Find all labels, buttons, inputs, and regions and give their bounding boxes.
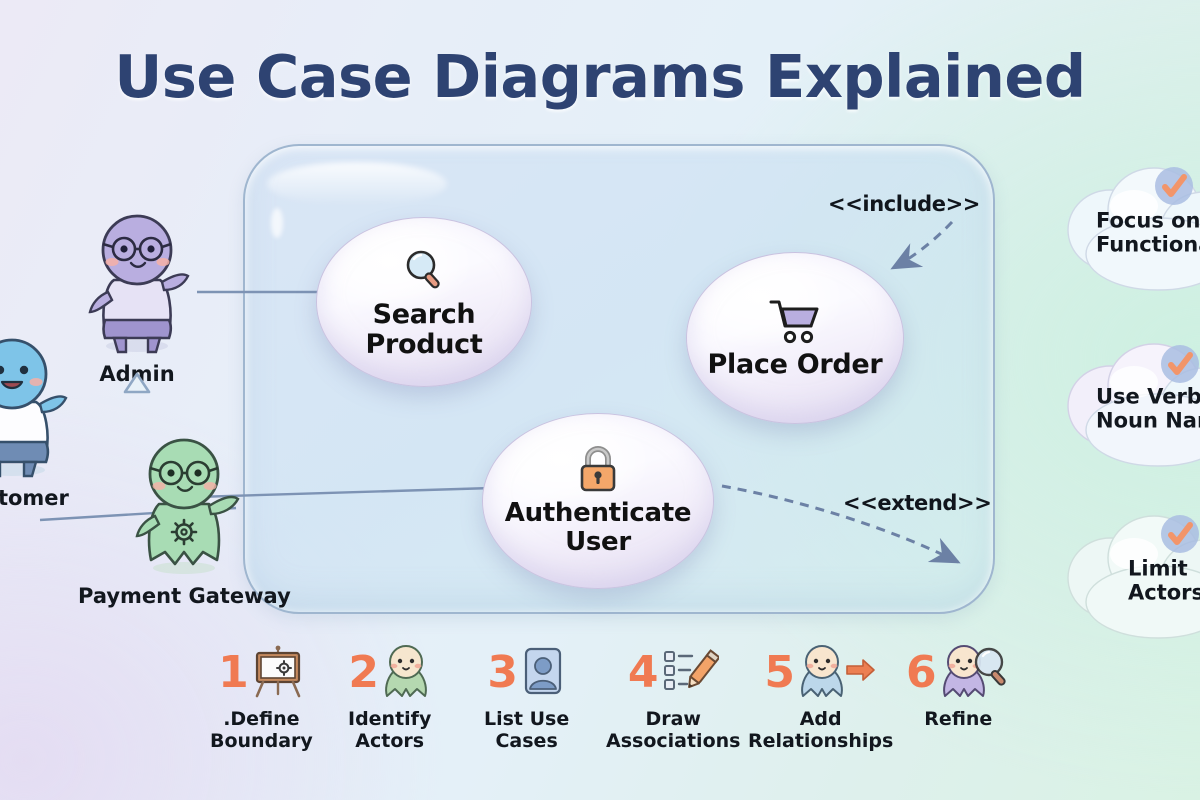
include-label: <<include>>	[828, 192, 980, 216]
magnifier-icon	[398, 244, 450, 296]
actor-admin-icon	[78, 206, 196, 359]
actor-admin[interactable]: Admin	[78, 206, 196, 387]
actor-magnifier-icon	[939, 644, 1011, 703]
lock-icon	[575, 445, 621, 495]
actor-payment-gateway[interactable]: Payment Gateway	[78, 428, 291, 609]
tip-cloud-use-verb-noun-names[interactable]: Use Verb-Noun Names	[1062, 334, 1200, 484]
step-refine[interactable]: 6 Refine	[906, 645, 1011, 730]
step-number: 1	[218, 651, 249, 695]
step-number: 2	[348, 651, 379, 695]
step-label: .Define Boundary	[210, 708, 313, 753]
use-case-label: Search Product	[317, 300, 531, 360]
checklist-pencil-icon	[661, 645, 719, 702]
whiteboard-icon	[251, 644, 305, 703]
steps-strip: 1	[196, 645, 1036, 765]
step-number: 3	[487, 651, 518, 695]
step-label: Draw Associations	[606, 708, 740, 753]
use-case-authenticate-user[interactable]: Authenticate User	[482, 413, 714, 589]
use-case-label: Authenticate User	[483, 499, 713, 557]
step-list-use-cases[interactable]: 3 List Use Cases	[484, 645, 569, 753]
step-draw-associations[interactable]: 4	[606, 645, 740, 753]
step-number: 4	[628, 651, 659, 695]
step-label: Refine	[924, 708, 992, 730]
actor-customer-icon	[0, 330, 76, 483]
use-case-search-product[interactable]: Search Product	[316, 217, 532, 387]
step-define-boundary[interactable]: 1	[210, 645, 313, 753]
extend-label: <<extend>>	[843, 491, 991, 515]
actor-label: Payment Gateway	[78, 585, 291, 609]
tip-label: Focus on Functionality	[1062, 209, 1200, 258]
actor-label: Customer	[0, 487, 69, 511]
tip-label: Use Verb-Noun Names	[1062, 385, 1200, 434]
step-label: List Use Cases	[484, 708, 569, 753]
tip-label: Limit Actors	[1062, 557, 1200, 606]
tip-cloud-limit-actors[interactable]: Limit Actors	[1062, 506, 1200, 656]
step-number: 6	[906, 651, 937, 695]
generalization-triangle-icon	[122, 390, 148, 409]
use-case-label: Place Order	[708, 350, 883, 380]
actor-gateway-icon	[125, 428, 243, 581]
step-identify-actors[interactable]: 2 Identify Actors	[348, 645, 431, 753]
page-title: Use Case Diagrams Explained	[0, 42, 1200, 111]
use-case-place-order[interactable]: Place Order	[686, 252, 904, 424]
step-number: 5	[764, 651, 795, 695]
actor-customer[interactable]: Customer	[0, 330, 76, 511]
tip-cloud-focus-on-functionality[interactable]: Focus on Functionality	[1062, 158, 1200, 308]
shopping-cart-icon	[767, 296, 823, 346]
step-label: Add Relationships	[748, 708, 893, 753]
actor-arrow-icon	[797, 644, 877, 703]
diagram-canvas: Use Case Diagrams Explained Search Pro	[0, 0, 1200, 800]
actor-green-icon	[381, 644, 431, 703]
step-add-relationships[interactable]: 5 Add Relationships	[748, 645, 893, 753]
step-label: Identify Actors	[348, 708, 431, 753]
user-card-icon	[520, 645, 566, 702]
